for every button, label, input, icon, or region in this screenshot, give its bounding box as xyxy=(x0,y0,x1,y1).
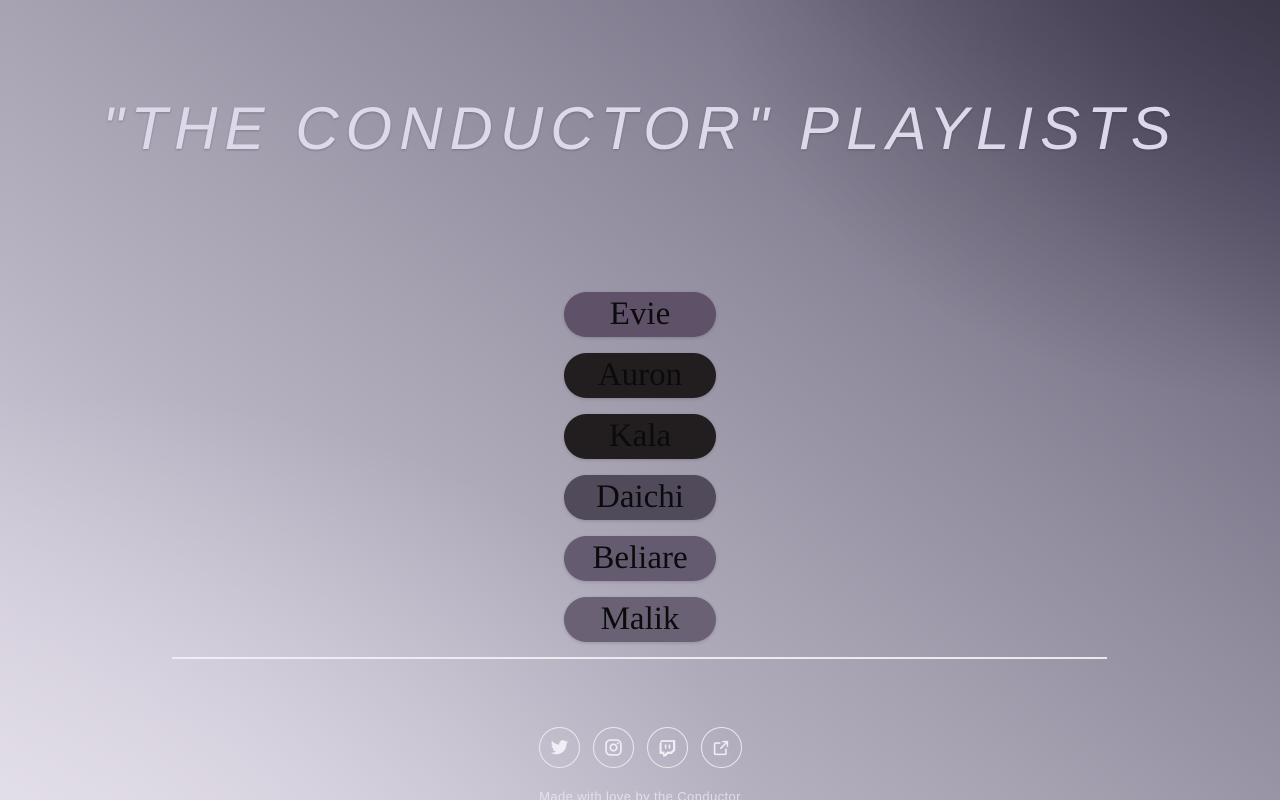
twitter-icon xyxy=(550,738,569,757)
playlist-button-label: Malik xyxy=(601,603,680,636)
playlist-button-label: Kala xyxy=(609,420,671,453)
page-background: "THE CONDUCTOR" PLAYLISTS Evie Auron Kal… xyxy=(0,0,1280,800)
external-link-icon xyxy=(712,739,730,757)
instagram-icon xyxy=(604,738,623,757)
playlist-button-daichi[interactable]: Daichi xyxy=(564,475,716,520)
playlist-button-label: Auron xyxy=(598,359,682,392)
social-link-twitter[interactable] xyxy=(539,727,580,768)
twitch-icon xyxy=(658,739,676,757)
playlist-button-list: Evie Auron Kala Daichi Beliare Malik xyxy=(0,292,1280,642)
playlist-button-label: Beliare xyxy=(592,542,687,575)
section-divider xyxy=(172,657,1107,659)
social-link-website[interactable] xyxy=(701,727,742,768)
social-link-row xyxy=(0,727,1280,768)
footer-note: Made with love by the Conductor xyxy=(0,789,1280,800)
social-link-instagram[interactable] xyxy=(593,727,634,768)
playlist-button-evie[interactable]: Evie xyxy=(564,292,716,337)
playlist-button-auron[interactable]: Auron xyxy=(564,353,716,398)
playlist-button-kala[interactable]: Kala xyxy=(564,414,716,459)
page-title: "THE CONDUCTOR" PLAYLISTS xyxy=(102,96,1178,162)
social-link-twitch[interactable] xyxy=(647,727,688,768)
playlist-button-label: Daichi xyxy=(596,481,684,514)
playlist-button-beliare[interactable]: Beliare xyxy=(564,536,716,581)
playlist-button-label: Evie xyxy=(610,298,670,331)
page-header: "THE CONDUCTOR" PLAYLISTS xyxy=(0,96,1280,162)
playlist-button-malik[interactable]: Malik xyxy=(564,597,716,642)
